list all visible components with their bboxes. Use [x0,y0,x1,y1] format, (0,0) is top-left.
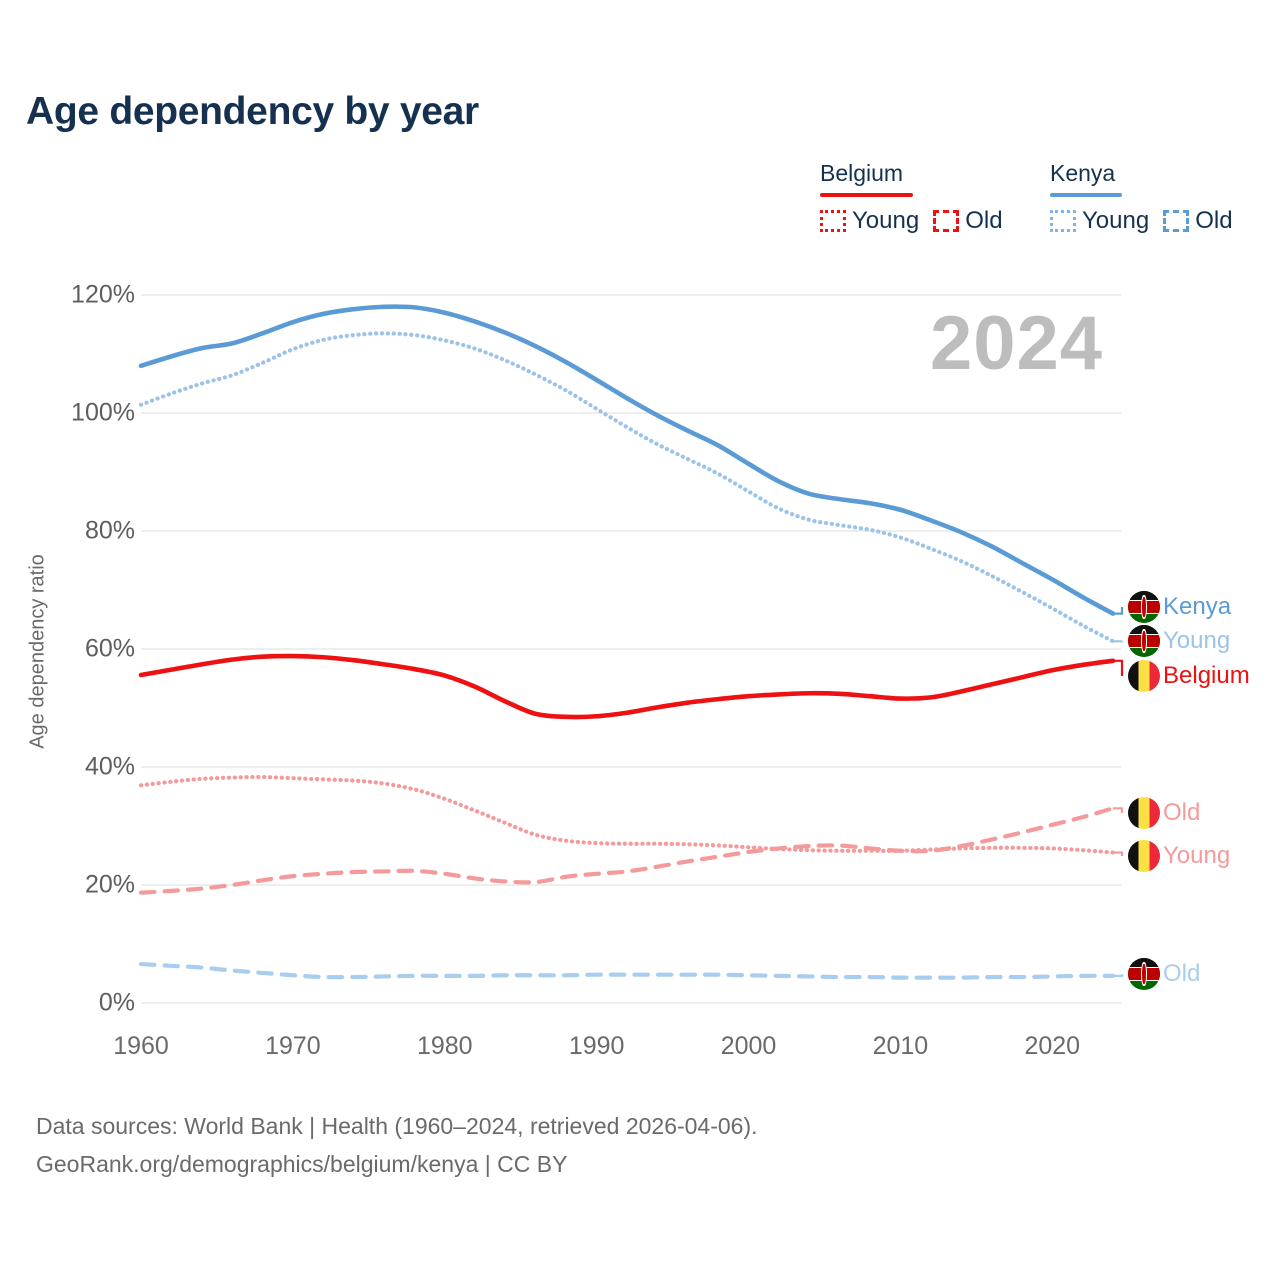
x-axis-tick-label: 1980 [417,1032,473,1061]
x-axis-tick-label: 1960 [113,1032,169,1061]
footer: Data sources: World Bank | Health (1960–… [36,1107,758,1183]
year-watermark: 2024 [930,300,1103,387]
end-label-text: Old [1163,799,1200,827]
series-line-kenya-old [141,964,1113,978]
end-label-young-kenya[interactable]: Young [1128,625,1230,657]
end-label-text: Young [1163,627,1230,655]
y-axis-tick-label: 100% [35,399,135,428]
series-line-belgium-young [141,777,1113,853]
footer-sources: Data sources: World Bank | Health (1960–… [36,1107,758,1145]
x-axis-tick-label: 2010 [873,1032,929,1061]
end-label-text: Young [1163,842,1230,870]
belgium-flag-icon [1128,840,1160,872]
series-line-belgium-old [141,808,1113,892]
end-label-old-kenya[interactable]: Old [1128,958,1200,990]
connector-line [1113,853,1122,857]
plot-area: 2024 0%20%40%60%80%100%120% 196019701980… [0,0,1280,1280]
connector-line [1113,661,1122,676]
end-label-belgium[interactable]: Belgium [1128,660,1250,692]
x-axis-tick-label: 2020 [1024,1032,1080,1061]
end-label-text: Belgium [1163,662,1250,690]
x-axis-tick-label: 2000 [721,1032,777,1061]
x-axis-tick-label: 1970 [265,1032,321,1061]
y-axis-tick-label: 60% [35,635,135,664]
end-label-old-belgium[interactable]: Old [1128,797,1200,829]
chart-svg [0,0,1280,1280]
footer-attribution[interactable]: GeoRank.org/demographics/belgium/kenya |… [36,1145,758,1183]
belgium-flag-icon [1128,660,1160,692]
connector-line [1113,607,1122,614]
y-axis-tick-label: 120% [35,281,135,310]
y-axis-tick-label: 0% [35,989,135,1018]
end-label-text: Old [1163,960,1200,988]
y-axis-tick-label: 80% [35,517,135,546]
belgium-flag-icon [1128,797,1160,829]
chart-page: Age dependency by year Belgium Young Old… [0,0,1280,1280]
x-axis-tick-label: 1990 [569,1032,625,1061]
end-label-young-belgium[interactable]: Young [1128,840,1230,872]
kenya-flag-icon [1128,958,1160,990]
series-lines [141,307,1113,978]
kenya-flag-icon [1128,591,1160,623]
connector-line [1113,808,1122,813]
y-axis-title: Age dependency ratio [27,532,50,772]
end-label-kenya[interactable]: Kenya [1128,591,1231,623]
kenya-flag-icon [1128,625,1160,657]
series-line-belgium-total [141,656,1113,717]
y-axis-tick-label: 40% [35,753,135,782]
y-axis-tick-label: 20% [35,871,135,900]
end-label-text: Kenya [1163,593,1231,621]
